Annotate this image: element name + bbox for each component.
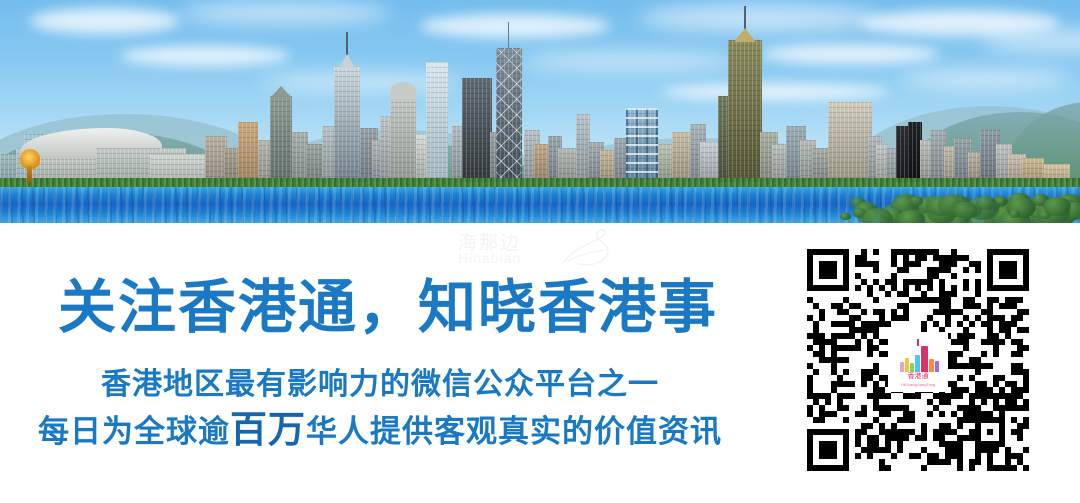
cloud-shape [420,14,610,38]
cloud-shape [900,70,1070,88]
building-window-texture [334,66,360,188]
building-block [390,92,416,188]
logo-building-bar [915,355,920,372]
subtitle-line2-prefix: 每日为全球逾 [38,414,230,449]
foliage-leaf [1009,210,1020,218]
foliage-leaf [897,210,925,223]
hero-skyline-image [0,0,1080,223]
building-window-texture [828,102,872,188]
skyline-logo-bars [898,346,938,372]
cloud-shape [30,8,180,34]
qr-code-block[interactable]: 香港通 HKXiangGangTong [804,246,1032,478]
logo-tower-spire [917,339,919,346]
boc-mast [508,22,509,48]
building-block [728,40,762,188]
building-block [462,78,492,188]
golden-bauhinia-statue-icon [18,149,42,183]
foliage-leaf [1043,197,1071,216]
hsbc-frame-pattern [626,108,658,188]
cloud-shape [760,44,940,64]
subtitle-line2-emphasis: 百万 [230,410,306,451]
logo-building-bar [905,358,909,372]
foreground-foliage [840,193,1080,223]
subtitle-line2-suffix: 华人提供客观真实的价值资讯 [306,414,722,449]
wechat-promo-banner: 海那边 Hinabian 关注香港通，知晓香港事 香港地区最有影响力的微信公众平… [0,0,1080,503]
cloud-shape [660,84,890,100]
building-window-texture [728,40,762,188]
building-block [270,96,292,188]
building-block [334,66,360,188]
cloud-shape [640,4,880,32]
building-block [828,102,872,188]
cloud-shape [520,52,740,70]
foliage-leaf [840,213,850,220]
building-block [426,62,448,188]
cloud-shape [180,2,390,24]
building-dome-top [390,82,416,100]
building-block [626,108,658,188]
promo-headline: 关注香港通，知晓香港事 [58,272,748,344]
bauhinia-stem [27,166,32,183]
logo-building-bar [921,346,928,372]
foliage-leaf [910,196,923,205]
qr-logo-chinese: 香港通 [892,371,944,381]
cloud-shape [120,46,290,66]
building-window-texture [462,78,492,188]
promo-subtitle-block: 香港地区最有影响力的微信公众平台之一 每日为全球逾百万华人提供客观真实的价值资讯 [0,362,760,455]
building-window-texture [270,96,292,188]
promo-subtitle-line-1: 香港地区最有影响力的微信公众平台之一 [0,362,760,408]
building-window-texture [390,92,416,188]
building-block [496,48,522,188]
qr-logo-english: HKXiangGangTong [892,382,944,387]
promo-subtitle-line-2: 每日为全球逾百万华人提供客观真实的价值资讯 [0,408,760,455]
boc-lattice-pattern [496,48,522,188]
building-window-texture [426,62,448,188]
foliage-leaf [862,208,894,223]
qr-center-logo: 香港通 HKXiangGangTong [892,336,944,388]
